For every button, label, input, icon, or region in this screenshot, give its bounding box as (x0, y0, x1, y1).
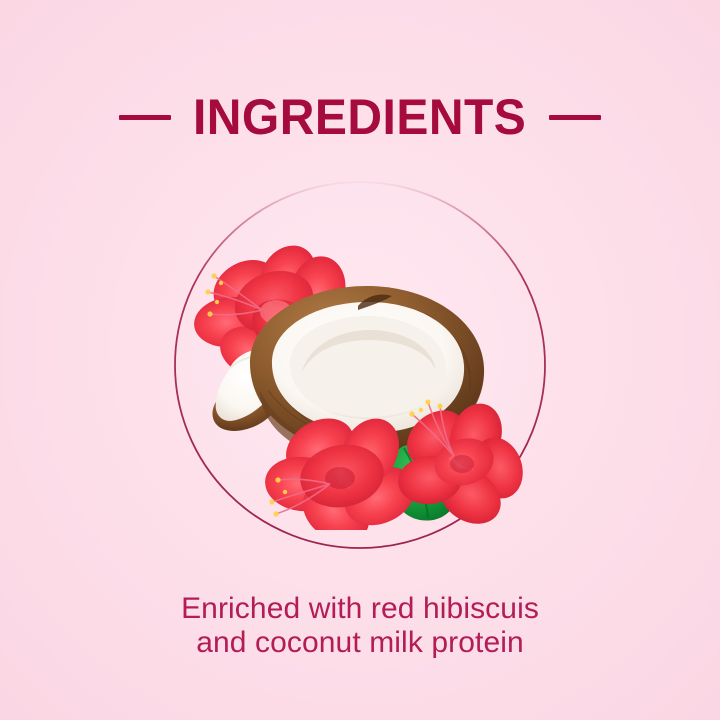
ingredients-caption: Enriched with red hibiscuis and coconut … (0, 592, 720, 660)
page-header: INGREDIENTS (0, 86, 720, 148)
caption-line-1: Enriched with red hibiscuis (0, 592, 720, 626)
page-title: INGREDIENTS (193, 92, 526, 142)
ingredients-poster: INGREDIENTS (0, 0, 720, 720)
coconut-hibiscus-artwork (190, 240, 530, 530)
title-rule-right-icon (549, 115, 601, 120)
caption-line-2: and coconut milk protein (0, 626, 720, 660)
title-rule-left-icon (119, 115, 171, 120)
